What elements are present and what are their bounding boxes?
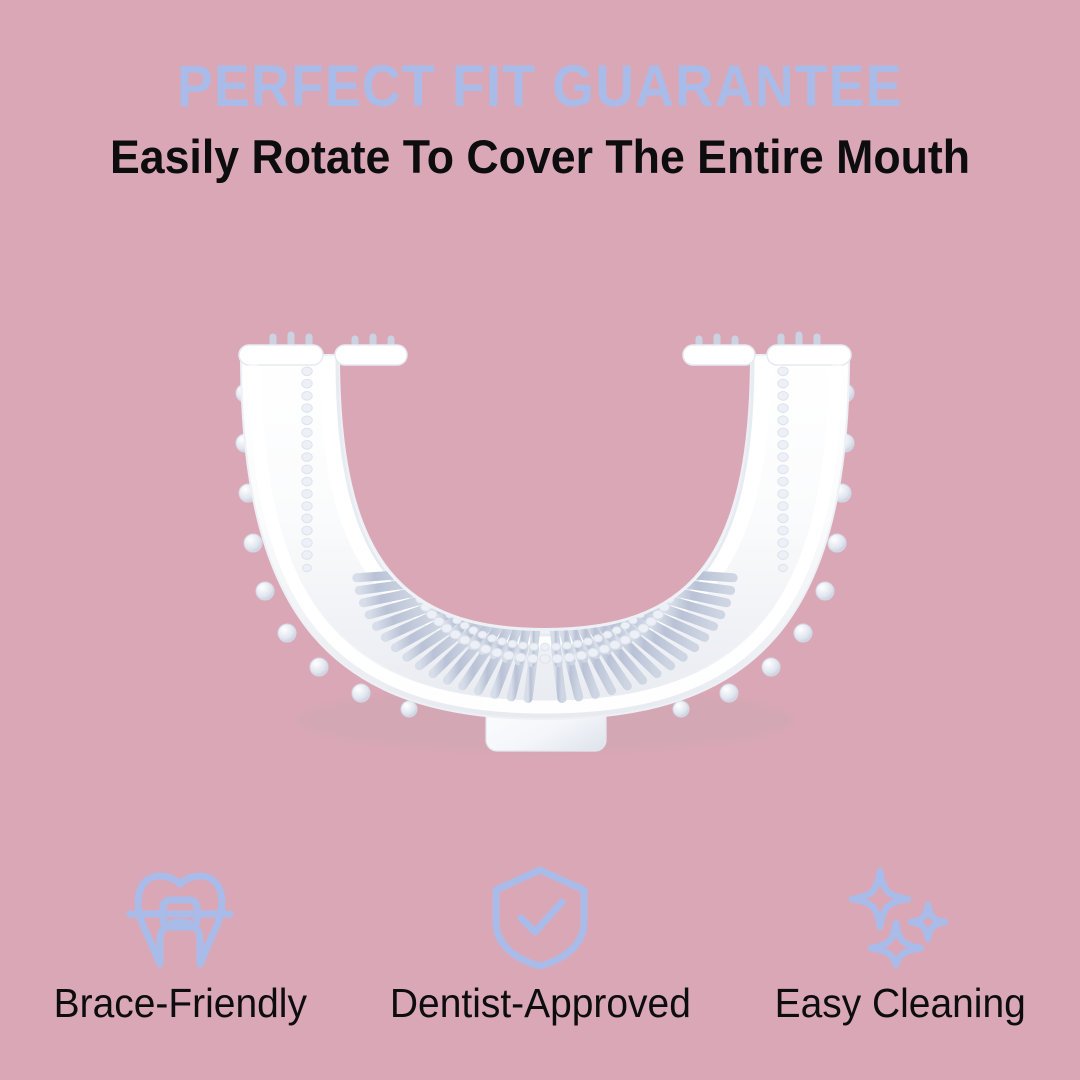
- feature-label: Dentist-Approved: [390, 980, 691, 1026]
- feature-row: Brace-Friendly Dentist-Approved: [0, 862, 1080, 1042]
- product-image: [195, 315, 895, 765]
- sparkles-icon: [844, 862, 956, 974]
- page-headline: PERFECT FIT GUARANTEE: [43, 56, 1037, 118]
- feature-label: Easy Cleaning: [774, 980, 1025, 1026]
- marketing-image: PERFECT FIT GUARANTEE Easily Rotate To C…: [0, 0, 1080, 1080]
- feature-dentist-approved: Dentist-Approved: [360, 862, 720, 1042]
- page-subheadline: Easily Rotate To Cover The Entire Mouth: [27, 130, 1053, 184]
- feature-brace-friendly: Brace-Friendly: [0, 862, 360, 1042]
- tooth-braces-icon: [124, 862, 236, 974]
- shield-check-icon: [488, 862, 592, 974]
- feature-easy-cleaning: Easy Cleaning: [720, 862, 1080, 1042]
- feature-label: Brace-Friendly: [53, 980, 306, 1026]
